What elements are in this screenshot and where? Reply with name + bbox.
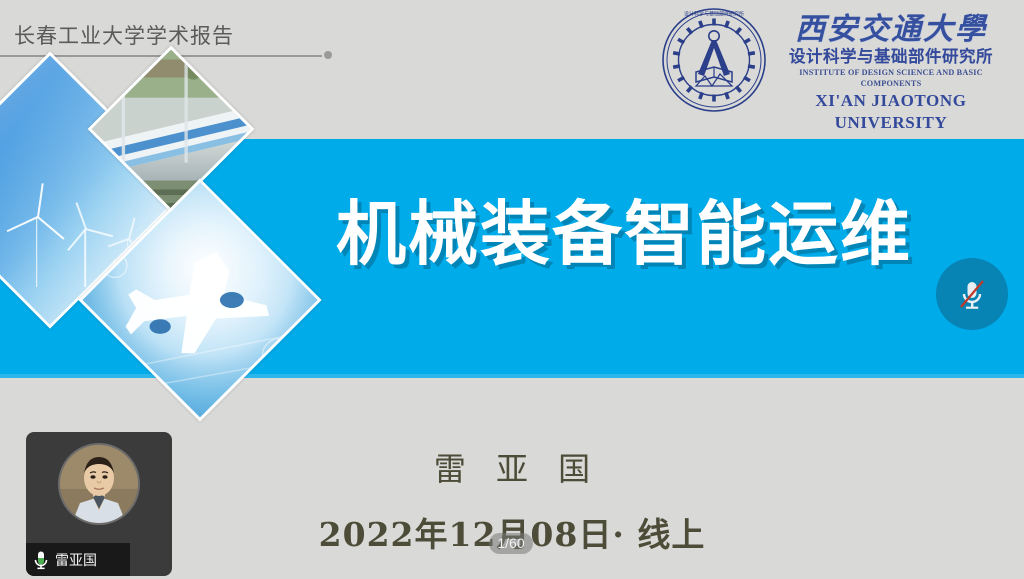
wind-turbine-icon — [65, 213, 105, 287]
wind-turbine-icon — [14, 199, 60, 287]
svg-text:设计科学与基础部件研究所: 设计科学与基础部件研究所 — [684, 11, 744, 18]
logo-institute-en: INSTITUTE OF DESIGN SCIENCE AND BASIC CO… — [772, 68, 1010, 89]
presentation-slide: 长春工业大学学术报告 — [0, 0, 1024, 579]
slide-title: 机械装备智能运维 — [336, 196, 1024, 273]
xjtu-seal-icon: 设计科学与基础部件研究所 — [660, 6, 768, 114]
participant-name-bar: 雷亚国 — [26, 543, 130, 576]
logo-university-cn: 西安交通大學 — [772, 14, 1010, 46]
avatar — [60, 445, 138, 523]
microphone-icon — [33, 550, 49, 570]
header-title: 长春工业大学学术报告 — [14, 20, 234, 50]
mic-muted-overlay[interactable] — [936, 258, 1008, 330]
participant-video-tile[interactable]: 雷亚国 — [26, 432, 172, 576]
page-indicator: 1/60 — [489, 533, 533, 554]
diamond-image-collage: 10110100101 01001010110 11010011001 0011… — [0, 74, 334, 414]
participant-name: 雷亚国 — [55, 550, 97, 570]
university-logo: 设计科学与基础部件研究所 西安交通大學 设计科学与基础部件研究所 INSTITU… — [660, 6, 1010, 118]
microphone-muted-icon — [952, 274, 992, 314]
logo-university-en: XI'AN JIAOTONG UNIVERSITY — [772, 90, 1010, 133]
logo-wordmark: 西安交通大學 设计科学与基础部件研究所 INSTITUTE OF DESIGN … — [768, 6, 1010, 133]
header-divider-dot — [324, 51, 332, 59]
logo-institute-cn: 设计科学与基础部件研究所 — [772, 47, 1010, 68]
avatar-photo — [60, 445, 138, 523]
